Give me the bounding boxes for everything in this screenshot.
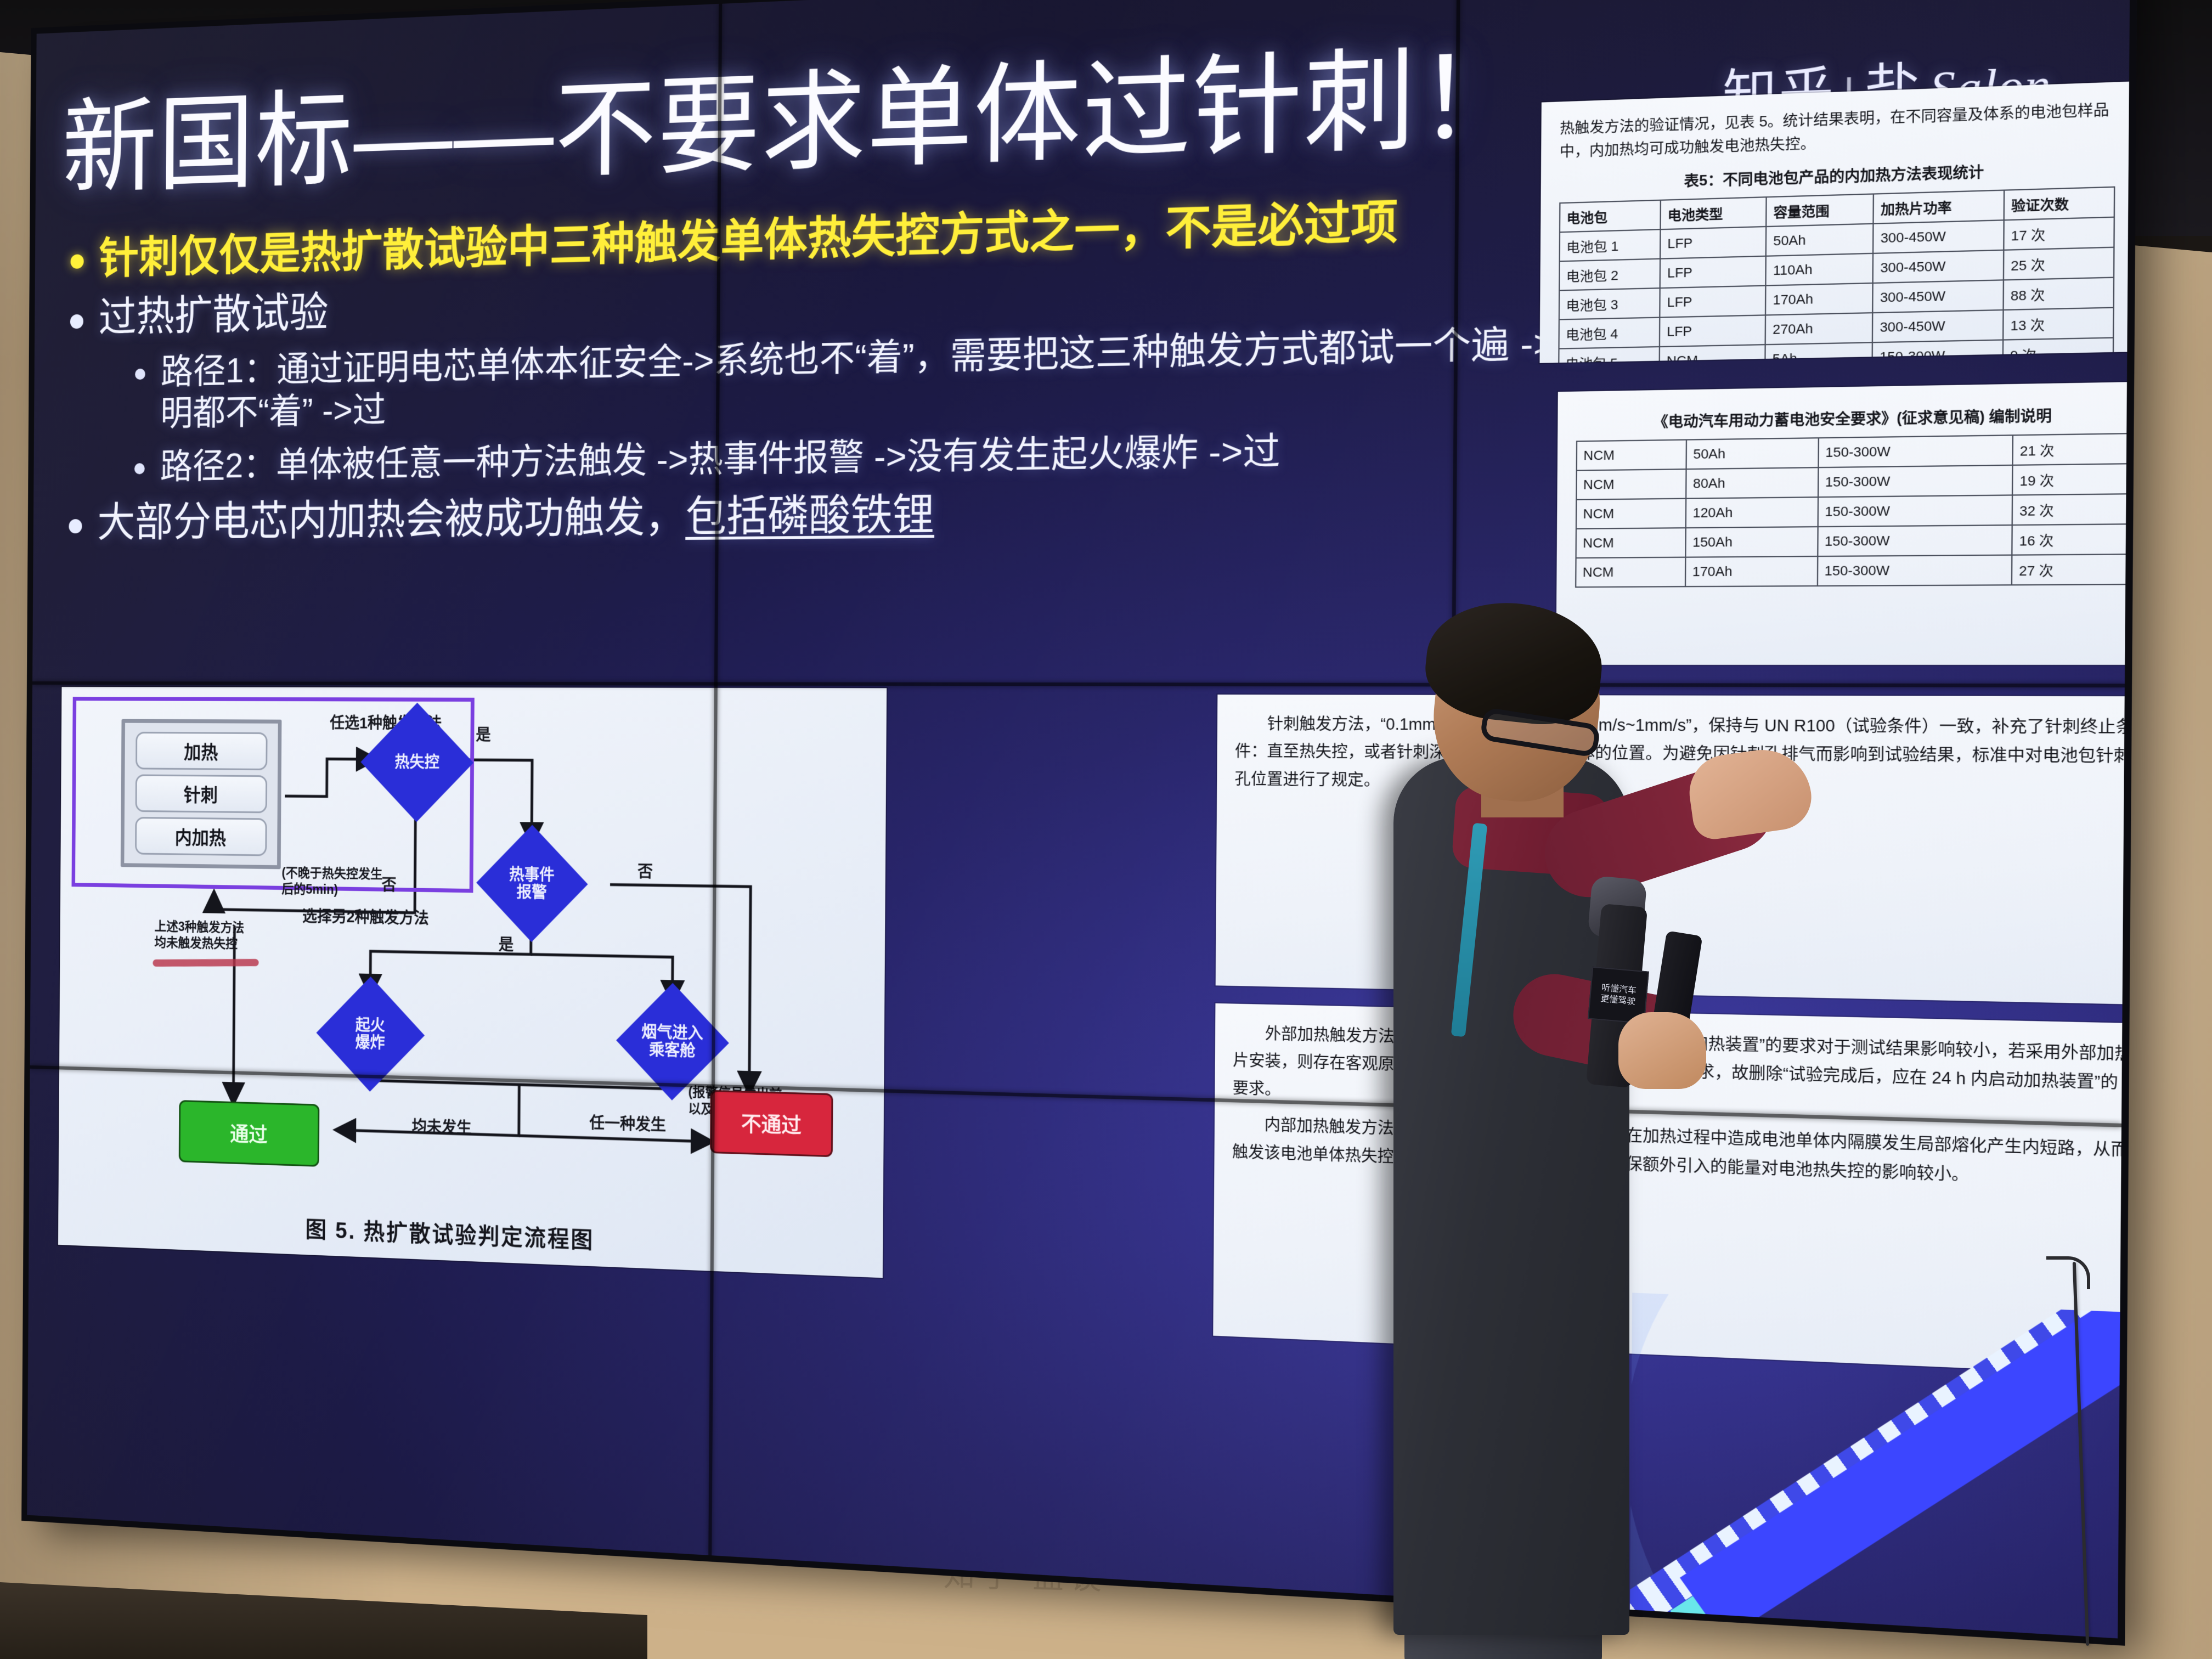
table-header-cell: 电池包 — [1560, 200, 1661, 232]
figure-caption: 图 5. 热扩散试验判定流程图 — [212, 1207, 693, 1259]
red-handdrawn-underline — [153, 959, 258, 967]
bullet-item-sub: 路径1：通过证明电芯单体本征安全->系统也不“着”，需要把这三种触发方式都试一个… — [134, 321, 1595, 435]
edge-label-none-occurred: 均未发生 — [412, 1114, 472, 1139]
table-cell: 88 次 — [2003, 277, 2114, 309]
edge-label-tr-no: 否 — [381, 873, 396, 895]
table-cell: 9 次 — [2003, 337, 2114, 363]
bullet-text: 路径1：通过证明电芯单体本征安全->系统也不“着”，需要把这三种触发方式都试一个… — [160, 321, 1595, 434]
table-header-cell: 验证次数 — [2004, 187, 2115, 220]
table-cell: 电池包 5 — [1559, 347, 1660, 363]
table-body: 电池包 1LFP50Ah300-450W17 次电池包 2LFP110Ah300… — [1559, 217, 2114, 363]
table-cell: 电池包 2 — [1559, 258, 1660, 290]
table-cell: NCM — [1577, 440, 1686, 471]
table-cell: 120Ah — [1686, 497, 1818, 528]
table-cell: 150-300W — [1818, 525, 2012, 556]
table-cell: 电池包 4 — [1559, 317, 1660, 348]
table-cell: 21 次 — [2013, 433, 2130, 465]
slide-title: 新国标——不要求单体过针刺！ — [62, 40, 1525, 202]
trigger-method-stack: 加热 针刺 内加热 — [121, 719, 282, 870]
trigger-chip-nail: 针刺 — [135, 774, 267, 813]
table-cell: 电池包 1 — [1560, 229, 1661, 261]
table-cell: 19 次 — [2012, 464, 2130, 495]
edge-label-alarm-yes: 是 — [499, 932, 514, 955]
table-cell: 170Ah — [1685, 556, 1818, 586]
annotation-no-trigger: 上述3种触发方法 均未触发热失控 — [154, 918, 244, 952]
table-header-cell: 电池类型 — [1661, 197, 1767, 229]
table-cell: 150-300W — [1818, 465, 2013, 497]
table-cell: 150-300W — [1818, 495, 2012, 527]
table-cell: 300-450W — [1873, 250, 2004, 283]
table-cell: 32 次 — [2012, 494, 2130, 525]
trigger-chip-internal-heat: 内加热 — [135, 817, 267, 856]
label-choose-other-two: 选择另2种触发方法 — [302, 904, 429, 929]
table-cell: NCM — [1660, 345, 1765, 363]
table-row: NCM150Ah150-300W16 次 — [1576, 524, 2130, 558]
annotation-alarm-timing: (不晚于热失控发生 后的5min) — [281, 865, 382, 898]
node-fire-explosion: 起火爆炸 — [316, 977, 425, 1092]
presenter-mic-hand — [1618, 1012, 1706, 1089]
table-cell: 50Ah — [1686, 438, 1818, 469]
table-cell: NCM — [1576, 469, 1686, 500]
bullet-dot-icon — [70, 314, 83, 329]
table-cell: 300-450W — [1874, 220, 2004, 253]
document-panel-table5: 热触发方法的验证情况，见表 5。统计结果表明，在不同容量及体系的电池包样品中，内… — [1539, 81, 2130, 363]
table-cell: 17 次 — [2004, 217, 2114, 250]
table-cell: NCM — [1576, 499, 1686, 529]
trigger-chip-heat: 加热 — [136, 732, 268, 770]
bullet-dot-icon — [69, 519, 82, 533]
table-cell: 13 次 — [2003, 307, 2114, 340]
table-cell: 16 次 — [2012, 524, 2130, 555]
table-cell: LFP — [1660, 256, 1766, 288]
bullet-list: 针刺仅仅是热扩散试验中三种触发单体热失控方式之一，不是必过项 过热扩散试验 路径… — [69, 190, 1596, 558]
edge-label-tr-yes: 是 — [476, 723, 491, 745]
bullet-text: 过热扩散试验 — [99, 290, 329, 341]
table-cell: LFP — [1661, 227, 1767, 259]
table-row: NCM120Ah150-300W32 次 — [1576, 494, 2130, 529]
bullet-item-sub: 路径2：单体被任意一种方法触发 ->热事件报警 ->没有发生起火爆炸 ->过 — [134, 425, 1595, 488]
bullet-dot-icon — [134, 463, 145, 474]
underlined-phrase: 包括磷酸铁锂 — [685, 490, 934, 540]
table-cell: 150-300W — [1818, 555, 2012, 586]
bullet-item: 大部分电芯内加热会被成功触发，包括磷酸铁锂 — [69, 483, 1594, 546]
node-fail: 不通过 — [710, 1090, 833, 1157]
edge-label-any-occurred: 任一种发生 — [589, 1110, 666, 1136]
table-cell: LFP — [1660, 315, 1765, 347]
table5-intro: 热触发方法的验证情况，见表 5。统计结果表明，在不同容量及体系的电池包样品中，内… — [1560, 98, 2116, 164]
table-cell: NCM — [1576, 528, 1686, 558]
presentation-slide: 新国标——不要求单体过针刺！ 知乎 | 盐 Salon 针刺仅仅是热扩散试验中三… — [27, 0, 2130, 1638]
table-ncm-internal-heating: NCM50Ah150-300W21 次NCM80Ah150-300W19 次NC… — [1575, 433, 2130, 588]
table-cell: 电池包 3 — [1559, 288, 1660, 319]
node-thermal-event-alarm: 热事件报警 — [476, 825, 588, 943]
edge-label-alarm-no: 否 — [637, 859, 653, 882]
table-cell: NCM — [1576, 557, 1685, 587]
bullet-text: 路径2：单体被任意一种方法触发 ->热事件报警 ->没有发生起火爆炸 ->过 — [160, 430, 1281, 488]
bullet-text-underlined: 大部分电芯内加热会被成功触发，包括磷酸铁锂 — [97, 490, 934, 546]
table-cell: 150Ah — [1685, 527, 1818, 557]
table-cell: 300-450W — [1873, 280, 2004, 313]
table-pack-internal-heating: 电池包电池类型容量范围加热片功率验证次数 电池包 1LFP50Ah300-450… — [1558, 186, 2115, 363]
node-pass: 通过 — [179, 1100, 320, 1167]
table-cell: 300-450W — [1872, 310, 2003, 342]
screenshot-stage: 知乎 盐谈 新国标——不要求单体过针刺！ 知乎 | 盐 Salon — [0, 0, 2212, 1659]
table-cell: 110Ah — [1766, 253, 1874, 286]
table-header-cell: 加热片功率 — [1874, 190, 2004, 223]
node-smoke-into-cabin: 烟气进入乘客舱 — [616, 983, 729, 1101]
table-header-cell: 容量范围 — [1767, 194, 1874, 226]
table-cell: 5Ah — [1765, 342, 1873, 363]
table-cell: 150-300W — [1872, 340, 2003, 363]
table-cell: 80Ah — [1686, 467, 1818, 498]
bullet-dot-icon — [70, 254, 83, 269]
table-body: NCM50Ah150-300W21 次NCM80Ah150-300W19 次NC… — [1576, 433, 2130, 587]
flowchart-panel: 加热 针刺 内加热 任选1种触发方法 选择另2种触发方法 否 热失控 — [58, 687, 887, 1278]
document-panel-ncm-table: 《电动汽车用动力蓄电池安全要求》(征求意见稿) 编制说明 NCM50Ah150-… — [1556, 382, 2130, 665]
video-wall: 新国标——不要求单体过针刺！ 知乎 | 盐 Salon 针刺仅仅是热扩散试验中三… — [27, 0, 2130, 1638]
table-cell: 50Ah — [1766, 223, 1874, 256]
decorative-ribbon-graphic — [1630, 1293, 2120, 1638]
table-cell: LFP — [1660, 285, 1766, 317]
table-cell: 270Ah — [1765, 313, 1873, 345]
table-cell: 170Ah — [1765, 283, 1873, 315]
ncm-table-header: 《电动汽车用动力蓄电池安全要求》(征求意见稿) 编制说明 — [1576, 402, 2130, 432]
table-cell: 27 次 — [2012, 554, 2130, 585]
table-cell: 150-300W — [1818, 435, 2013, 467]
table-cell: 25 次 — [2004, 247, 2114, 280]
table-row: NCM170Ah150-300W27 次 — [1576, 554, 2130, 587]
bullet-dot-icon — [135, 369, 145, 380]
